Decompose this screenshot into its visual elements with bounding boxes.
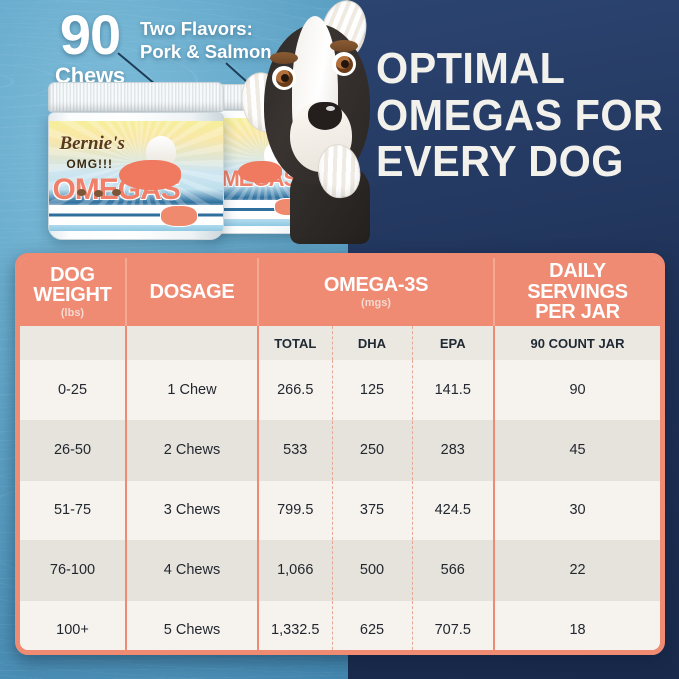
cell-dha: 500: [332, 540, 412, 600]
cell-dha: 250: [332, 420, 412, 480]
sub-header-blank-1: [20, 326, 126, 360]
jar-fish-art: [119, 160, 181, 190]
cell-weight: 100+: [20, 600, 126, 655]
jar-body-front: Bernie's OMG!!! OMEGAS 5X EXTRA STRENGTH…: [48, 112, 224, 240]
dog-eye-right: [332, 52, 356, 76]
table-row: 76-1004 Chews1,06650056622: [20, 540, 660, 600]
cell-total: 533: [258, 420, 332, 480]
cell-total: 266.5: [258, 360, 332, 420]
cell-weight: 0-25: [20, 360, 126, 420]
sub-header-epa: EPA: [412, 326, 494, 360]
cell-epa: 283: [412, 420, 494, 480]
cell-servings: 45: [494, 420, 660, 480]
cell-epa: 141.5: [412, 360, 494, 420]
cell-epa: 707.5: [412, 600, 494, 655]
cell-weight: 51-75: [20, 480, 126, 540]
cell-dosage: 3 Chews: [126, 480, 258, 540]
table-header-row-sub: TOTAL DHA EPA 90 COUNT JAR: [20, 326, 660, 360]
table-row: 100+5 Chews1,332.5625707.518: [20, 600, 660, 655]
dog-eye-left: [272, 66, 296, 90]
table-header-row-main: DOG WEIGHT (lbs) DOSAGE OMEGA-3S (mgs) D…: [20, 258, 660, 326]
jar-label-front: Bernie's OMG!!! OMEGAS 5X EXTRA STRENGTH…: [49, 121, 223, 232]
cell-servings: 22: [494, 540, 660, 600]
cell-servings: 90: [494, 360, 660, 420]
col-header-omega3s-unit: (mgs): [259, 298, 493, 309]
jar-omg-text: OMG!!!: [66, 157, 113, 171]
cell-dha: 625: [332, 600, 412, 655]
dog-illustration: [246, 0, 386, 244]
jar-lid-front: [48, 82, 224, 112]
dog-brow-left: [270, 52, 298, 64]
col-header-daily-servings-l1: DAILY: [495, 261, 660, 281]
cell-dha: 375: [332, 480, 412, 540]
dog-nose: [308, 102, 342, 130]
col-header-daily-servings-l3: PER JAR: [495, 302, 660, 322]
cell-dosage: 5 Chews: [126, 600, 258, 655]
cell-dosage: 4 Chews: [126, 540, 258, 600]
col-header-omega3s: OMEGA-3S (mgs): [258, 258, 494, 326]
headline-line-3: EVERY DOG: [376, 139, 654, 186]
dosage-table: DOG WEIGHT (lbs) DOSAGE OMEGA-3S (mgs) D…: [15, 253, 665, 655]
col-header-dosage-label: DOSAGE: [127, 282, 257, 302]
jar-kibble-art-3: [112, 189, 121, 196]
col-header-dog-weight: DOG WEIGHT (lbs): [20, 258, 126, 326]
sub-header-dha: DHA: [332, 326, 412, 360]
hero-section: 90 Chews Two Flavors: Pork & Salmon OMEG…: [0, 0, 348, 255]
jar-brand-name: Bernie's: [59, 134, 124, 153]
dog-brow-right: [330, 40, 358, 52]
cell-epa: 424.5: [412, 480, 494, 540]
col-header-dog-weight-unit: (lbs): [20, 308, 125, 319]
cell-servings: 30: [494, 480, 660, 540]
table-head: DOG WEIGHT (lbs) DOSAGE OMEGA-3S (mgs) D…: [20, 258, 660, 360]
dog-nose-highlight: [326, 106, 335, 111]
cell-dha: 125: [332, 360, 412, 420]
cell-dosage: 2 Chews: [126, 420, 258, 480]
cell-total: 1,332.5: [258, 600, 332, 655]
dosage-table-element: DOG WEIGHT (lbs) DOSAGE OMEGA-3S (mgs) D…: [20, 258, 660, 655]
jar-flavor-badge: [160, 205, 198, 227]
headline-line-2: OMEGAS FOR: [376, 93, 654, 140]
table-row: 51-753 Chews799.5375424.530: [20, 480, 660, 540]
cell-weight: 76-100: [20, 540, 126, 600]
table-row: 0-251 Chew266.5125141.590: [20, 360, 660, 420]
table-row: 26-502 Chews53325028345: [20, 420, 660, 480]
col-header-daily-servings-l2: SERVINGS: [495, 282, 660, 302]
product-jar-salmon: Bernie's OMG!!! OMEGAS 5X EXTRA STRENGTH…: [48, 82, 224, 240]
cell-weight: 26-50: [20, 420, 126, 480]
table-body: 0-251 Chew266.5125141.59026-502 Chews533…: [20, 360, 660, 655]
cell-dosage: 1 Chew: [126, 360, 258, 420]
col-header-dog-weight-l2: WEIGHT: [20, 285, 125, 305]
col-header-daily-servings: DAILY SERVINGS PER JAR: [494, 258, 660, 326]
col-header-dog-weight-l1: DOG: [20, 265, 125, 285]
col-header-omega3s-label: OMEGA-3S: [259, 275, 493, 295]
sub-header-total: TOTAL: [258, 326, 332, 360]
col-header-dosage: DOSAGE: [126, 258, 258, 326]
sub-header-count-jar: 90 COUNT JAR: [494, 326, 660, 360]
headline-line-1: OPTIMAL: [376, 46, 654, 93]
cell-total: 799.5: [258, 480, 332, 540]
cell-epa: 566: [412, 540, 494, 600]
page-title: OPTIMAL OMEGAS FOR EVERY DOG: [376, 46, 672, 186]
cell-servings: 18: [494, 600, 660, 655]
cell-total: 1,066: [258, 540, 332, 600]
sub-header-blank-2: [126, 326, 258, 360]
